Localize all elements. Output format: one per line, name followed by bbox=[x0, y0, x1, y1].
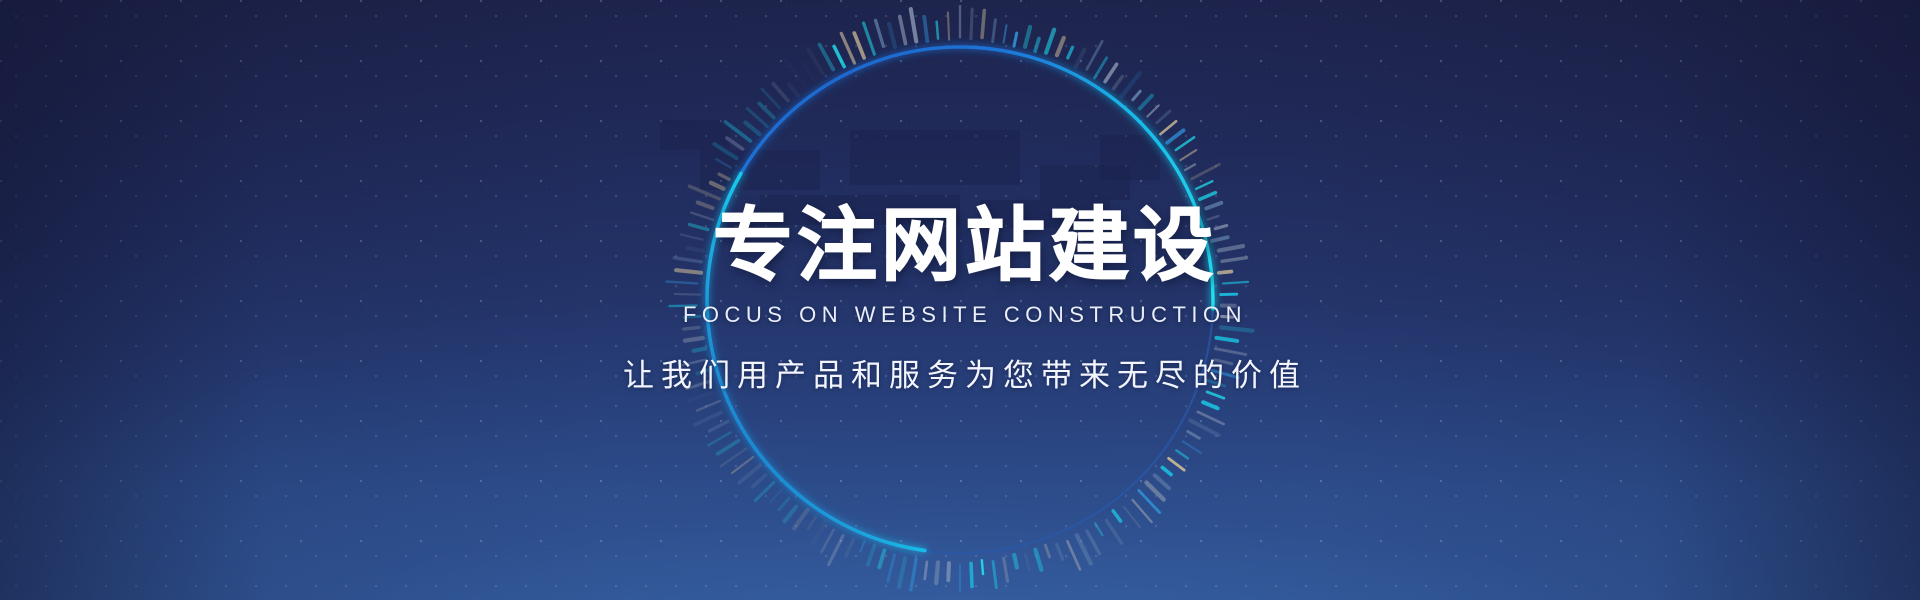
page-title: 专注网站建设 bbox=[713, 205, 1217, 287]
hero-text-block: 专注网站建设 FOCUS ON WEBSITE CONSTRUCTION 让我们… bbox=[0, 0, 1920, 600]
page-tagline: 让我们用产品和服务为您带来无尽的价值 bbox=[623, 350, 1307, 395]
page-subtitle: FOCUS ON WEBSITE CONSTRUCTION bbox=[683, 302, 1247, 328]
hero-banner: 专注网站建设 FOCUS ON WEBSITE CONSTRUCTION 让我们… bbox=[0, 0, 1920, 600]
